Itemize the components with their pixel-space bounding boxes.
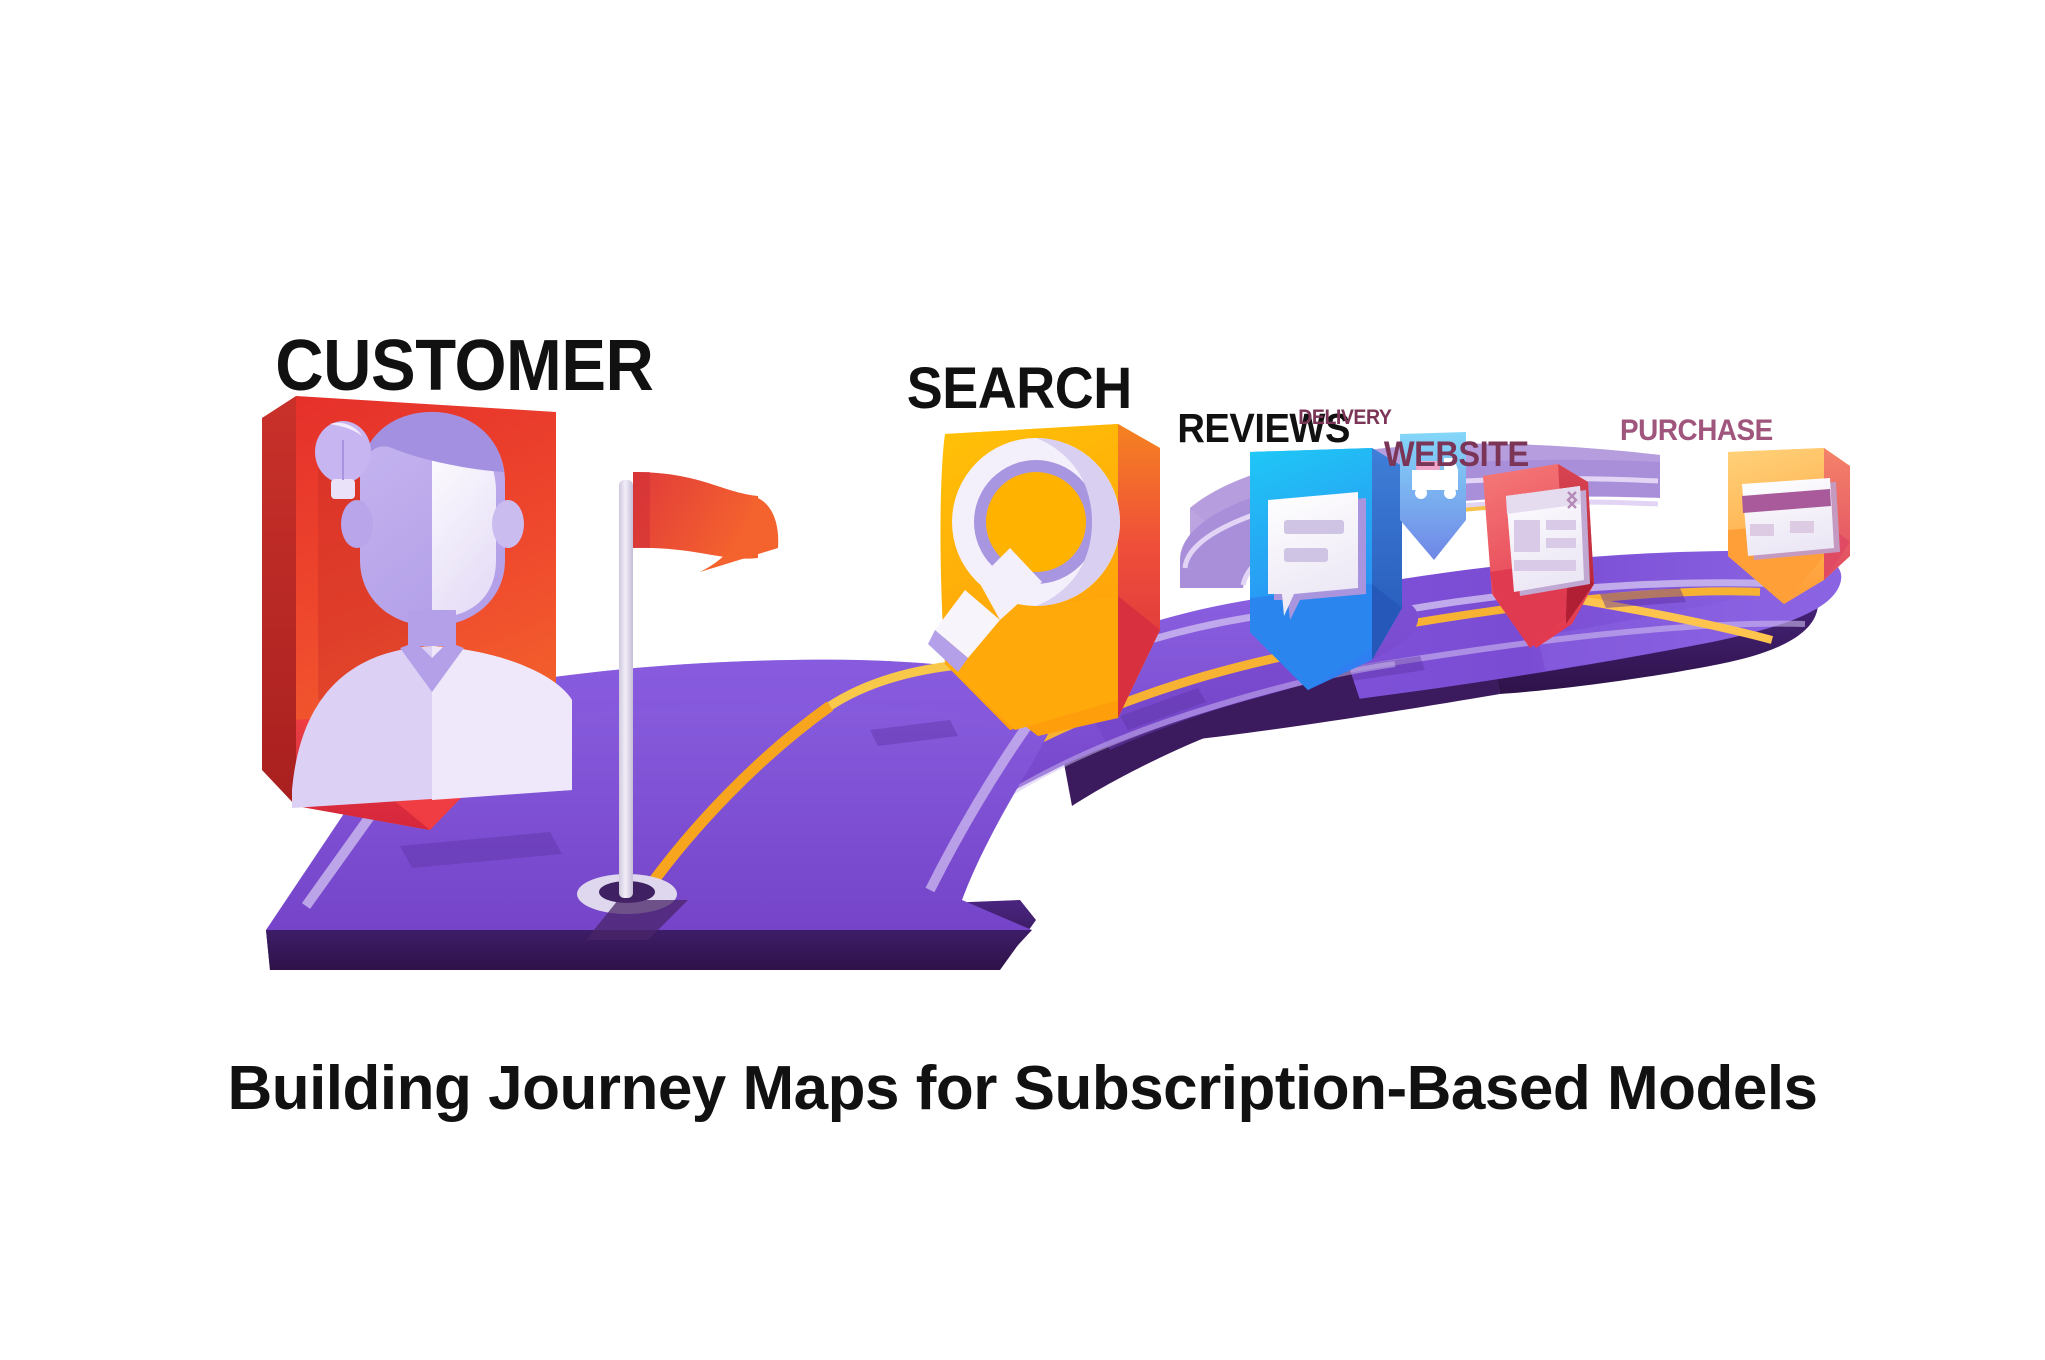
marker-label-purchase: PURCHASE <box>1620 414 1773 447</box>
marker-label-search: SEARCH <box>907 355 1132 420</box>
marker-label-delivery: DELIVERY <box>1298 406 1392 429</box>
journey-road-illustration: CUSTOMER SEARCH <box>0 0 2045 1070</box>
page-caption: Building Journey Maps for Subscription-B… <box>0 1055 2045 1123</box>
credit-card-icon <box>1742 478 1840 560</box>
journey-map-scene: CUSTOMER SEARCH <box>0 0 2045 1070</box>
browser-window-icon <box>1506 486 1590 596</box>
illustration-canvas: CUSTOMER SEARCH <box>0 0 2045 1360</box>
marker-label-website: WEBSITE <box>1384 435 1529 474</box>
marker-label-customer: CUSTOMER <box>275 325 653 406</box>
